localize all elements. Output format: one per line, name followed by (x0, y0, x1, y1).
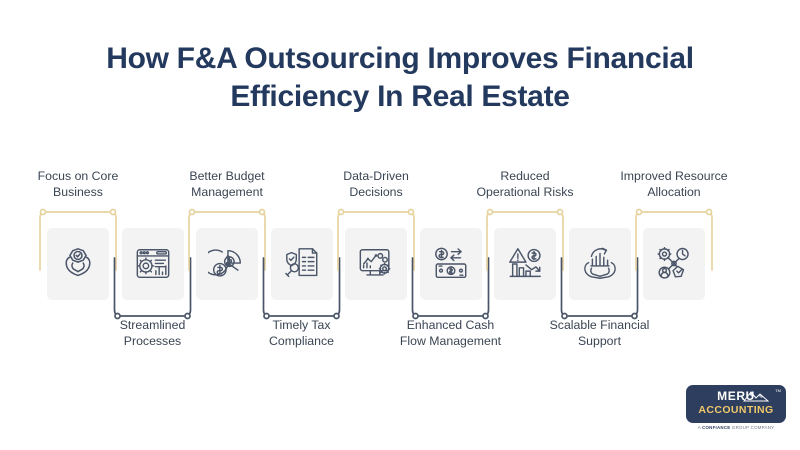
step-icon-box-4 (271, 228, 333, 300)
connector-node-9-2 (707, 210, 712, 215)
page-title: How F&A Outsourcing Improves Financial E… (0, 40, 800, 117)
tax-document-shield-icon (283, 245, 321, 283)
shield-check-in-hands-icon (59, 245, 97, 283)
step-label-5: Data-Driven Decisions (306, 169, 446, 200)
connector-node-5-1 (339, 210, 344, 215)
connector-node-7-2 (558, 210, 563, 215)
step-label-6: Enhanced Cash Flow Management (381, 318, 521, 349)
tagline-suffix: GROUP COMPANY (730, 425, 774, 430)
step-icon-box-2 (122, 228, 184, 300)
connector-node-9-1 (637, 210, 642, 215)
dashboard-gear-chart-icon (134, 245, 172, 283)
step-icon-box-9 (643, 228, 705, 300)
step-icon-box-3 (196, 228, 258, 300)
logo-subtitle: ACCOUNTING (686, 404, 786, 416)
mountain-icon (743, 390, 769, 402)
step-icon-box-6 (420, 228, 482, 300)
risk-declining-chart-icon (506, 245, 544, 283)
connector-node-1-1 (41, 210, 46, 215)
brand-logo: MERU ACCOUNTING TM A CONFIANCE GROUP COM… (686, 385, 786, 435)
monitor-analytics-icon (357, 245, 395, 283)
pie-chart-coins-icon (208, 245, 246, 283)
step-icon-box-5 (345, 228, 407, 300)
trademark-mark: TM (775, 388, 781, 393)
process-flow: Focus on Core Business Streamlined Proce… (0, 170, 800, 360)
cash-flow-exchange-icon (432, 245, 470, 283)
step-label-2: Streamlined Processes (83, 318, 223, 349)
step-icon-box-8 (569, 228, 631, 300)
connector-node-1-2 (111, 210, 116, 215)
logo-name: MERU (686, 389, 786, 403)
connector-node-3-1 (190, 210, 195, 215)
step-label-1: Focus on Core Business (8, 169, 148, 200)
step-label-9: Improved Resource Allocation (604, 169, 744, 200)
growth-chart-in-hands-icon (581, 245, 619, 283)
connector-node-3-2 (260, 210, 265, 215)
connector-node-5-2 (409, 210, 414, 215)
tagline-brand: CONFIANCE (702, 425, 730, 430)
step-label-3: Better Budget Management (157, 169, 297, 200)
step-icon-box-7 (494, 228, 556, 300)
step-icon-box-1 (47, 228, 109, 300)
connector-node-7-1 (488, 210, 493, 215)
step-label-8: Scalable Financial Support (530, 318, 670, 349)
step-label-4: Timely Tax Compliance (232, 318, 372, 349)
step-label-7: Reduced Operational Risks (455, 169, 595, 200)
infographic-canvas: How F&A Outsourcing Improves Financial E… (0, 0, 800, 450)
logo-tagline: A CONFIANCE GROUP COMPANY (686, 425, 786, 430)
resource-network-icon (655, 245, 693, 283)
